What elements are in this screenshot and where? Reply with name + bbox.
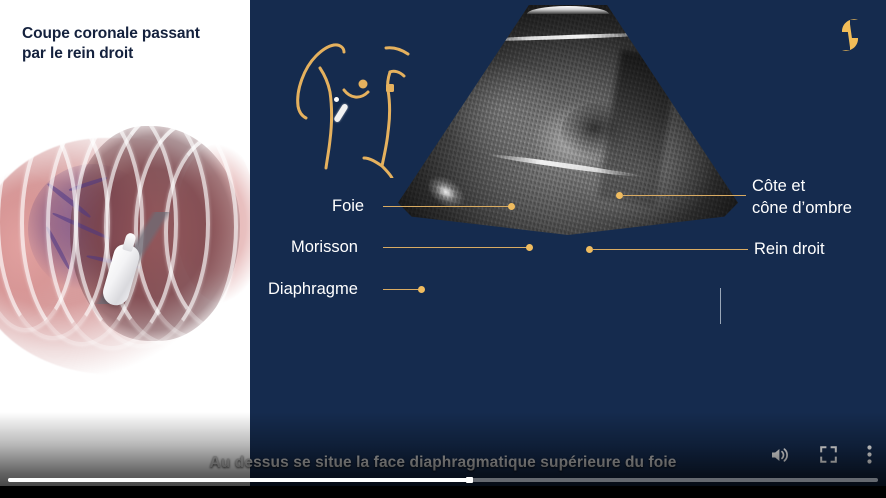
callout-diaphragme-leader [383, 289, 421, 290]
callout-morisson-dot [526, 244, 533, 251]
callout-rein-label: Rein droit [754, 239, 825, 259]
callout-diaphragme-dot [418, 286, 425, 293]
callout-rein-leader [592, 249, 748, 250]
callout-morisson-label: Morisson [291, 237, 358, 257]
progress-bar[interactable] [8, 478, 878, 482]
progress-handle[interactable] [466, 477, 473, 483]
s-logo-icon [837, 18, 863, 52]
player-bottom-strip [0, 486, 886, 498]
callout-cote-leader [622, 195, 746, 196]
anatomy-illustration [0, 120, 250, 405]
callout-foie-label: Foie [332, 196, 364, 216]
progress-fill [8, 478, 469, 482]
callout-diaphragme-label: Diaphragme [268, 279, 358, 299]
video-player[interactable]: Coupe coronale passant par le rein droit [0, 0, 886, 498]
anatomy-panel: Coupe coronale passant par le rein droit [0, 0, 250, 498]
callout-cote-label-line-1: Côte et [752, 176, 805, 196]
ultrasound-image [398, 5, 738, 355]
callout-foie-dot [508, 203, 515, 210]
callout-cote-label-line-2: cône d’ombre [752, 198, 852, 218]
page-title-line-2: par le rein droit [22, 44, 232, 64]
page-title-line-1: Coupe coronale passant [22, 24, 232, 44]
ultrasound-sector [398, 5, 738, 235]
callout-foie-leader [383, 206, 511, 207]
callout-morisson-leader [383, 247, 529, 248]
subtitle-text: Au dessus se situe la face diaphragmatiq… [0, 454, 886, 472]
vertical-tick [720, 288, 721, 324]
slide-panel: Foie Morisson Diaphragme Côte et cône d’… [250, 0, 886, 498]
probe-marker-dot [334, 97, 339, 102]
slide-title: Coupe coronale passant par le rein droit [22, 24, 232, 64]
